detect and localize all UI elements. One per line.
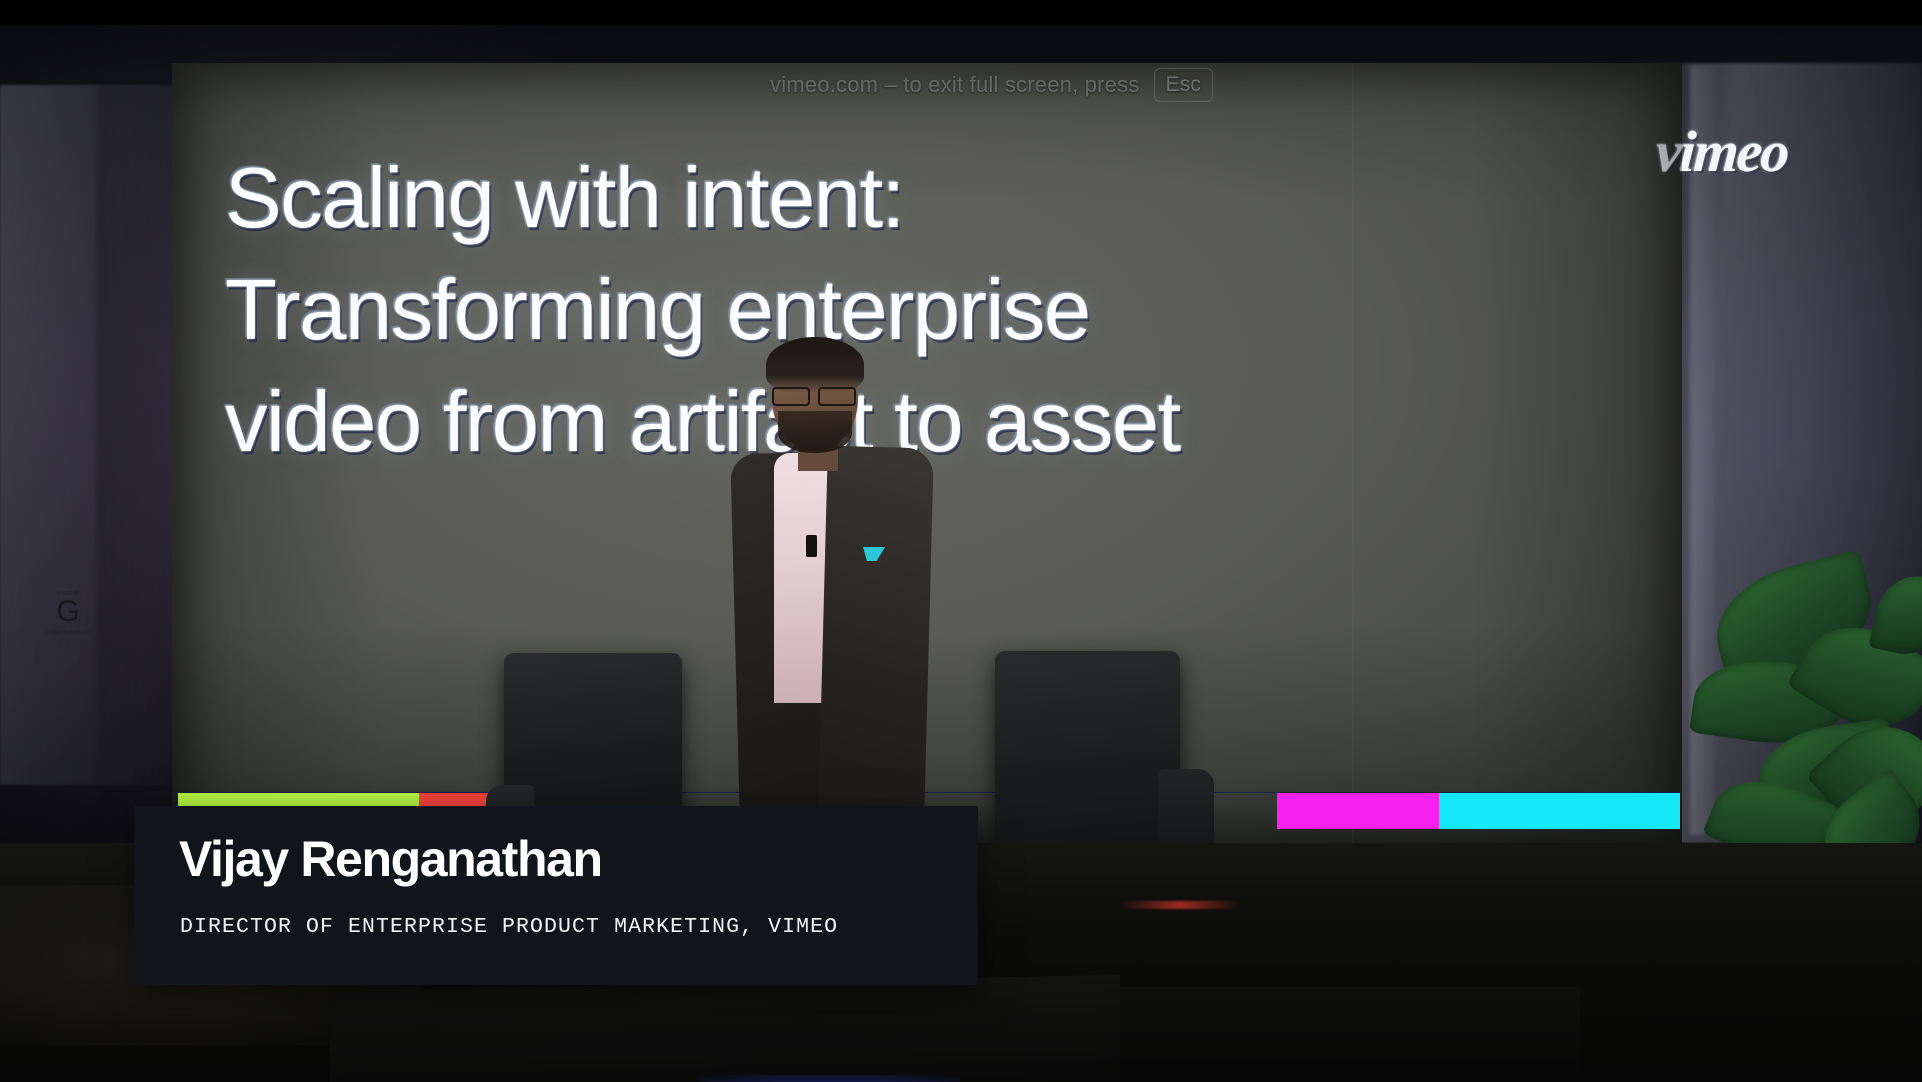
color-bar-segment-cyan	[1439, 793, 1680, 829]
speaker-hair	[766, 337, 864, 393]
plant-leaf	[1868, 569, 1922, 662]
speaker-glasses-icon	[770, 387, 862, 403]
stage-riser-left	[330, 975, 1120, 1082]
speaker-job-title: DIRECTOR OF ENTERPRISE PRODUCT MARKETING…	[180, 914, 838, 940]
color-bar-segment-magenta	[1277, 793, 1439, 829]
stage-red-light-strip	[1120, 901, 1240, 909]
fullscreen-exit-toast: vimeo.com – to exit full screen, press E…	[770, 68, 1213, 102]
esc-key-badge: Esc	[1154, 68, 1214, 102]
room-sign-letter: G	[38, 597, 98, 627]
floor-led-glow	[700, 1075, 960, 1082]
lower-third-name-card: Vijay Renganathan DIRECTOR OF ENTERPRISE…	[134, 806, 978, 985]
letterbox-top-bar	[0, 0, 1922, 25]
speaker-name: Vijay Renganathan	[179, 831, 602, 887]
fullscreen-video-player[interactable]: ROOM G CONFERENCE vimeo Scaling with int…	[0, 0, 1922, 1082]
speaker-lapel-mic-icon	[806, 535, 817, 557]
room-sign-top-label: ROOM	[38, 591, 98, 597]
room-sign-bottom-label: CONFERENCE	[38, 630, 98, 636]
venue-backdrop: ROOM G CONFERENCE vimeo Scaling with int…	[0, 25, 1922, 1082]
room-sign: ROOM G CONFERENCE	[38, 591, 98, 636]
stage-riser-right	[1120, 987, 1580, 1082]
speaker-beard	[778, 411, 852, 453]
fullscreen-exit-message: vimeo.com – to exit full screen, press	[770, 72, 1140, 98]
left-wall-shadow	[96, 85, 178, 785]
